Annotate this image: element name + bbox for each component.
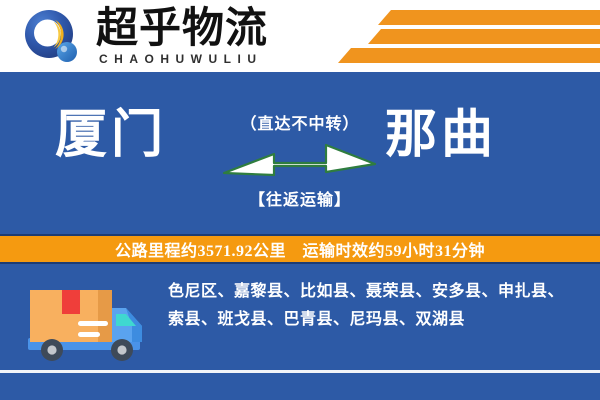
- chaohu-q-logo-icon: [22, 8, 84, 66]
- route-panel: 厦门 （直达不中转） 【往返运输】 那曲: [0, 72, 600, 234]
- county-line-2: 索县、班戈县、巴青县、尼玛县、双湖县: [168, 306, 580, 334]
- header-stripe-3: [338, 48, 600, 63]
- direct-shipping-note: （直达不中转）: [0, 110, 600, 134]
- distance-and-duration-text: 公路里程约3571.92公里 运输时效约59小时31分钟: [115, 237, 485, 261]
- served-counties-list: 色尼区、嘉黎县、比如县、聂荣县、安多县、申扎县、 索县、班戈县、巴青县、尼玛县、…: [168, 278, 580, 334]
- brand-name-en: CHAOHUWULIU: [99, 52, 263, 66]
- roundtrip-note: 【往返运输】: [0, 186, 600, 210]
- logistics-route-banner: 超乎物流 CHAOHUWULIU 厦门 （直达不中转） 【往返运输】 那曲 公路…: [0, 0, 600, 400]
- banner-header: 超乎物流 CHAOHUWULIU: [0, 0, 600, 72]
- coverage-area: 色尼区、嘉黎县、比如县、聂荣县、安多县、申扎县、 索县、班戈县、巴青县、尼玛县、…: [0, 264, 600, 400]
- bidirectional-arrow-icon: [222, 142, 377, 182]
- route-info-bar: 公路里程约3571.92公里 运输时效约59小时31分钟: [0, 234, 600, 264]
- brand-name-cn: 超乎物流: [96, 7, 268, 51]
- road-line: [0, 370, 600, 373]
- county-line-1: 色尼区、嘉黎县、比如县、聂荣县、安多县、申扎县、: [168, 278, 580, 306]
- header-stripe-2: [368, 29, 600, 44]
- delivery-truck-icon: [22, 276, 150, 368]
- destination-city: 那曲: [385, 106, 497, 166]
- header-stripe-1: [378, 10, 600, 25]
